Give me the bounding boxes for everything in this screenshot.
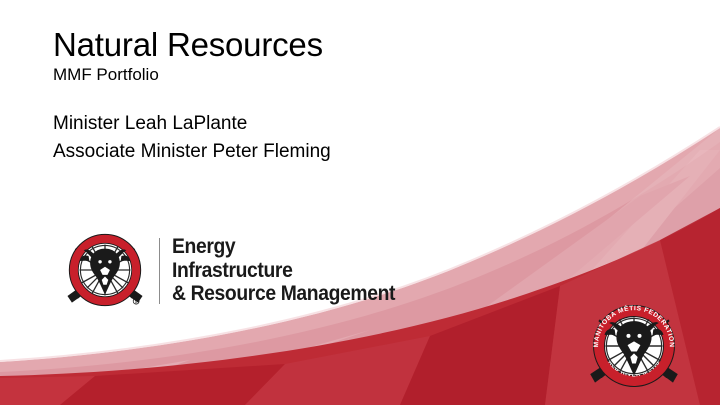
department-logo-lockup: R Energy Infrastructure & Resource Manag… (64, 229, 444, 311)
presentation-slide: Natural Resources MMF Portfolio Minister… (0, 0, 720, 405)
page-subtitle: MMF Portfolio (53, 64, 653, 85)
logo-wordmark-line-1: Energy (172, 235, 395, 259)
presenter-block: Minister Leah LaPlante Associate Ministe… (53, 110, 653, 166)
corner-mmf-bison-crest-icon: MANITOBA MÉTIS FEDERATION RED RIVER MÉTI… (588, 300, 680, 392)
logo-wordmark-line-3: & Resource Management (172, 282, 395, 306)
presenter-name-minister: Minister Leah LaPlante (53, 110, 653, 138)
page-title: Natural Resources (53, 27, 653, 63)
presenter-name-associate-minister: Associate Minister Peter Fleming (53, 138, 653, 166)
logo-wordmark: Energy Infrastructure & Resource Managem… (172, 235, 415, 306)
logo-divider (159, 238, 160, 304)
logo-wordmark-line-2: Infrastructure (172, 259, 395, 283)
title-block: Natural Resources MMF Portfolio (53, 27, 653, 85)
mmf-bison-crest-icon: R (64, 229, 146, 311)
